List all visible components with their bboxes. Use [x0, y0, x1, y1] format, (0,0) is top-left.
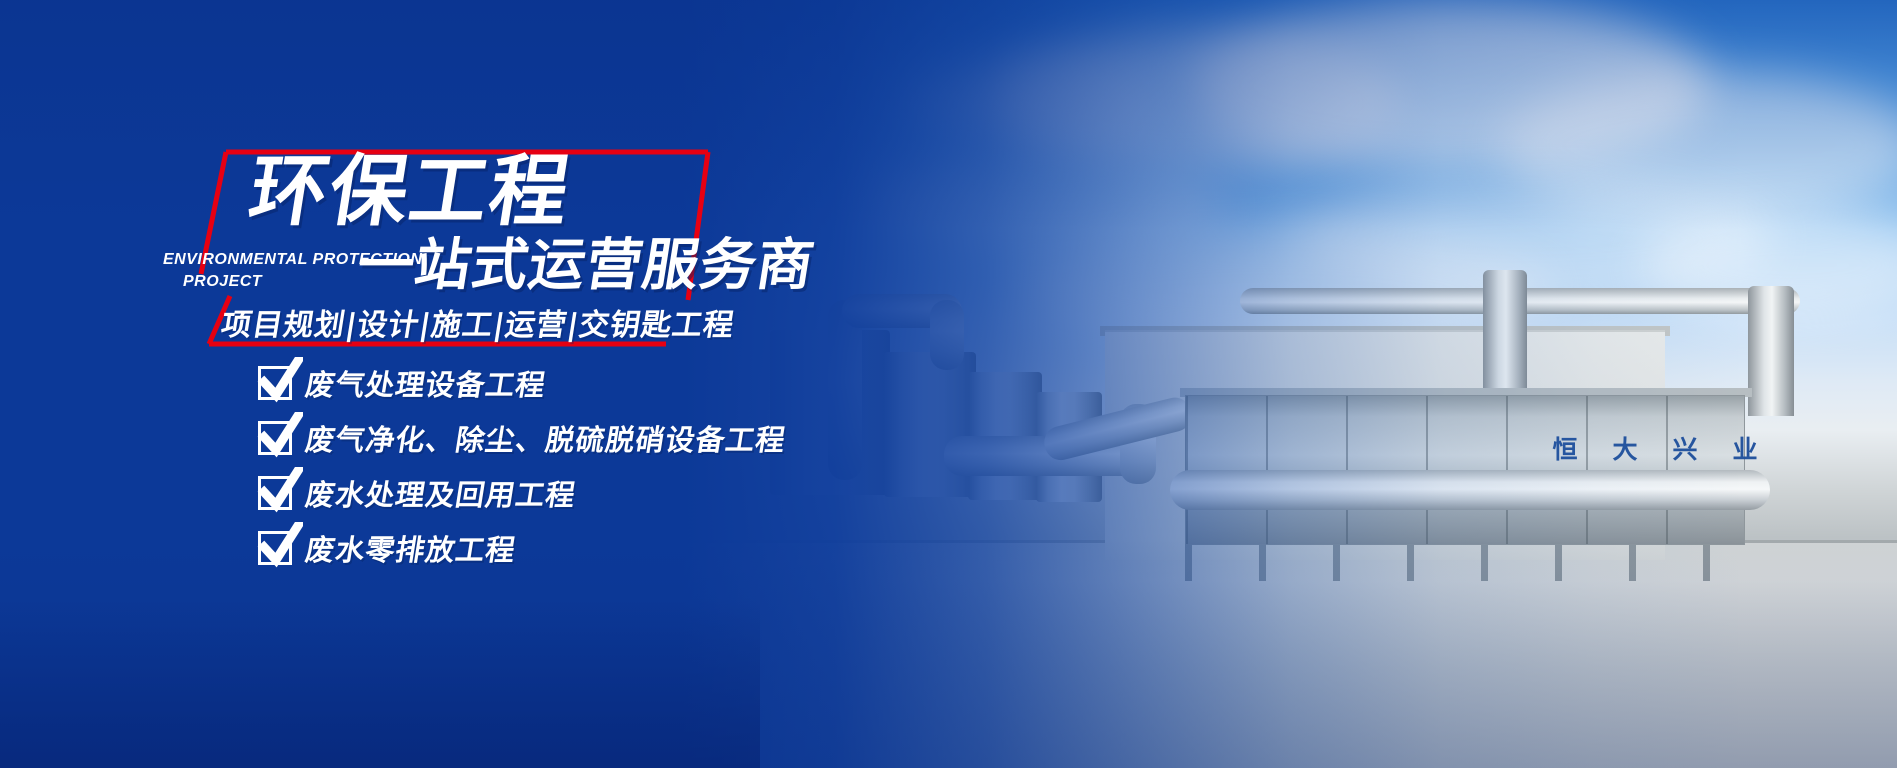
checkmark-icon [258, 531, 292, 565]
english-subtitle-line2: PROJECT [163, 271, 422, 293]
english-subtitle: ENVIRONMENTAL PROTECTION PROJECT [163, 249, 422, 292]
list-item: 废气净化、除尘、脱硫脱硝设备工程 [258, 417, 786, 459]
page-title-line2: 一站式运营服务商 [354, 238, 819, 294]
list-item: 废水处理及回用工程 [258, 472, 786, 514]
list-item-label: 废水处理及回用工程 [303, 472, 580, 514]
hero-banner: 恒 大 兴 业 环保工程 一站式运营服务商 ENVIRONME [0, 0, 1897, 768]
checkmark-icon [258, 366, 292, 400]
banner-content: 环保工程 一站式运营服务商 ENVIRONMENTAL PROTECTION P… [0, 0, 1897, 768]
service-checklist: 废气处理设备工程 废气净化、除尘、脱硫脱硝设备工程 废水处理及回用工程 [258, 362, 786, 569]
list-item-label: 废水零排放工程 [303, 527, 520, 569]
list-item: 废水零排放工程 [258, 527, 786, 569]
services-strip: 项目规划|设计|施工|运营|交钥匙工程 [219, 300, 739, 344]
checkmark-icon [258, 476, 292, 510]
list-item-label: 废气净化、除尘、脱硫脱硝设备工程 [303, 417, 790, 459]
checkmark-icon [258, 421, 292, 455]
list-item: 废气处理设备工程 [258, 362, 786, 404]
english-subtitle-line1: ENVIRONMENTAL PROTECTION [163, 251, 422, 268]
list-item-label: 废气处理设备工程 [303, 362, 550, 404]
page-title-line1: 环保工程 [244, 153, 576, 231]
